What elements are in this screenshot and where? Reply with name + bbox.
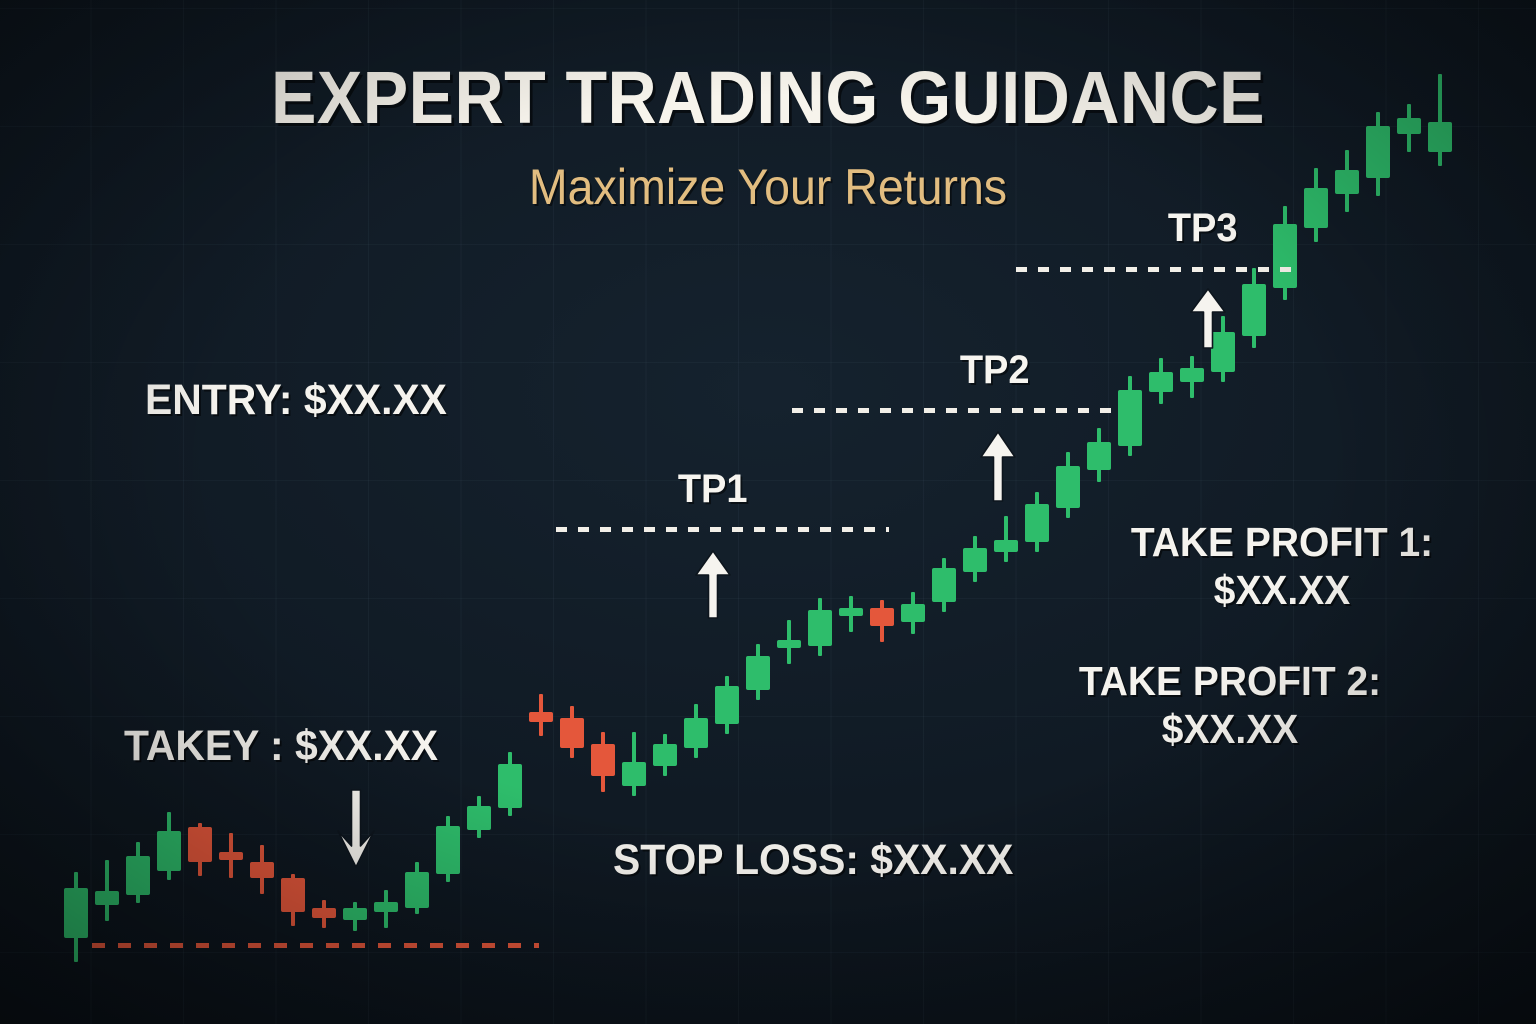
candlestick bbox=[901, 592, 925, 634]
entry-price-label: ENTRY: $XX.XX bbox=[145, 376, 447, 425]
arrow-up-icon bbox=[1187, 286, 1229, 350]
candle-body bbox=[1056, 466, 1080, 508]
tp1-target-line bbox=[556, 527, 889, 532]
candlestick bbox=[1087, 428, 1111, 482]
candlestick bbox=[932, 558, 956, 612]
tp2-target-line bbox=[792, 408, 1119, 413]
candle-body bbox=[467, 806, 491, 830]
candle-body bbox=[498, 764, 522, 808]
candle-body bbox=[622, 762, 646, 786]
candlestick bbox=[715, 676, 739, 734]
candle-body bbox=[994, 540, 1018, 552]
candle-body bbox=[281, 878, 305, 912]
candlestick bbox=[529, 694, 553, 736]
candlestick bbox=[498, 752, 522, 816]
candle-body bbox=[560, 718, 584, 748]
candle-body bbox=[1118, 390, 1142, 446]
trading-infographic: TP1 TP2 TP3 EXPERT TRADING GUIDANCE Maxi… bbox=[0, 0, 1536, 1024]
candlestick bbox=[126, 842, 150, 903]
candle-body bbox=[95, 891, 119, 905]
candle-body bbox=[374, 902, 398, 912]
candle-body bbox=[1087, 442, 1111, 470]
candlestick bbox=[746, 644, 770, 700]
candle-body bbox=[777, 640, 801, 648]
candlestick bbox=[1118, 376, 1142, 456]
arrow-down-icon bbox=[335, 788, 377, 870]
candlestick bbox=[777, 620, 801, 664]
candle-body bbox=[1273, 224, 1297, 288]
candle-body bbox=[126, 856, 150, 895]
candlestick bbox=[405, 862, 429, 914]
candle-body bbox=[157, 831, 181, 871]
candlestick bbox=[839, 596, 863, 632]
candle-body bbox=[436, 826, 460, 874]
candlestick bbox=[1149, 358, 1173, 404]
candlestick bbox=[653, 734, 677, 776]
candlestick bbox=[1056, 452, 1080, 518]
stop-loss-label: STOP LOSS: $XX.XX bbox=[613, 836, 1013, 885]
tp3-target-line bbox=[1016, 267, 1297, 272]
candle-body bbox=[64, 888, 88, 938]
arrow-up-icon bbox=[977, 429, 1019, 503]
candlestick bbox=[622, 732, 646, 796]
candle-body bbox=[250, 862, 274, 878]
takey-price-label: TAKEY : $XX.XX bbox=[124, 722, 438, 771]
candlestick bbox=[436, 816, 460, 882]
arrow-up-icon bbox=[692, 548, 734, 620]
candle-body bbox=[219, 852, 243, 860]
candle-body bbox=[963, 548, 987, 572]
candle-body bbox=[839, 608, 863, 616]
candle-body bbox=[529, 712, 553, 722]
candle-body bbox=[405, 872, 429, 908]
candlestick bbox=[1242, 268, 1266, 348]
candle-body bbox=[932, 568, 956, 602]
candle-body bbox=[901, 604, 925, 622]
candlestick bbox=[467, 796, 491, 838]
candle-body bbox=[1180, 368, 1204, 382]
page-subtitle: Maximize Your Returns bbox=[54, 158, 1482, 216]
candlestick bbox=[591, 732, 615, 792]
candle-body bbox=[870, 608, 894, 626]
candlestick bbox=[560, 706, 584, 758]
candlestick bbox=[994, 516, 1018, 562]
candlestick bbox=[684, 704, 708, 758]
candle-body bbox=[715, 686, 739, 724]
candle-wick bbox=[1004, 516, 1008, 562]
candlestick bbox=[64, 872, 88, 962]
candlestick bbox=[312, 900, 336, 928]
candlestick bbox=[870, 600, 894, 642]
stop-loss-line bbox=[92, 943, 539, 948]
candle-body bbox=[653, 744, 677, 766]
candlestick bbox=[188, 823, 212, 876]
candlestick bbox=[808, 598, 832, 656]
candlestick bbox=[343, 902, 367, 931]
candlestick bbox=[250, 845, 274, 894]
candle-body bbox=[343, 908, 367, 920]
candle-body bbox=[808, 610, 832, 646]
candlestick bbox=[963, 536, 987, 582]
candle-body bbox=[1242, 284, 1266, 336]
candle-body bbox=[746, 656, 770, 690]
candle-body bbox=[684, 718, 708, 748]
take-profit-1-label: TAKE PROFIT 1:$XX.XX bbox=[1121, 519, 1444, 614]
candlestick bbox=[281, 874, 305, 926]
tp1-label: TP1 bbox=[678, 467, 748, 512]
candle-body bbox=[188, 827, 212, 862]
candlestick bbox=[95, 860, 119, 921]
candlestick bbox=[1025, 492, 1049, 552]
take-profit-2-label: TAKE PROFIT 2:$XX.XX bbox=[1069, 658, 1392, 753]
candle-body bbox=[1149, 372, 1173, 392]
candle-body bbox=[591, 744, 615, 776]
candlestick bbox=[219, 833, 243, 878]
tp2-label: TP2 bbox=[960, 348, 1030, 393]
candle-body bbox=[1025, 504, 1049, 542]
candlestick bbox=[1273, 206, 1297, 300]
candlestick bbox=[1180, 356, 1204, 398]
page-title: EXPERT TRADING GUIDANCE bbox=[61, 55, 1474, 140]
candle-body bbox=[312, 908, 336, 918]
candlestick bbox=[157, 812, 181, 880]
candlestick bbox=[374, 890, 398, 928]
